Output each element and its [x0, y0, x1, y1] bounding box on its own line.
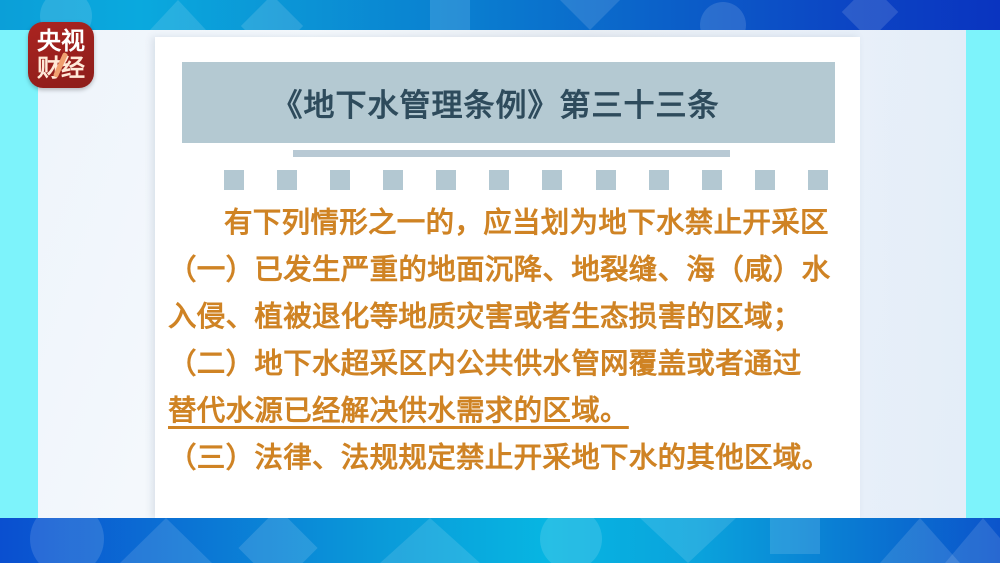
divider-square [436, 170, 456, 190]
clause-two-marker: （二） [168, 341, 254, 388]
logo-line-1: 央视 [37, 28, 85, 55]
band-triangle-down-shape-2 [640, 518, 736, 563]
divider-square [702, 170, 722, 190]
band-circle-shape-4 [540, 518, 602, 563]
band-triangle-shape-3 [120, 518, 212, 563]
band-diamond-shape-3 [238, 518, 317, 563]
broadcast-graphic: 《地下水管理条例》第三十三条 有下列情形之一的，应当划为地下水禁止开采区 （一）… [0, 0, 1000, 563]
divider-square [755, 170, 775, 190]
title-underline-rule [293, 150, 730, 157]
divider-square [489, 170, 509, 190]
divider-square [596, 170, 616, 190]
band-circle-shape-3 [30, 518, 104, 563]
body-line-3: 入侵、植被退化等地质灾害或者生态损害的区域； [168, 294, 858, 341]
divider-square [649, 170, 669, 190]
divider-square [277, 170, 297, 190]
divider-square [330, 170, 350, 190]
band-triangle-down-shape [560, 0, 620, 30]
body-line-6: （三）法律、法规规定禁止开采地下水的其他区域。 [168, 435, 858, 482]
band-triangle-shape-6 [945, 518, 1000, 563]
top-decorative-band [0, 0, 1000, 30]
cctv-finance-logo: 央视 财经 [28, 22, 94, 88]
band-triangle-shape-4 [380, 518, 480, 563]
clause-two-text-part1: 地下水超采区内公共供水管网覆盖或者通过 [254, 348, 801, 380]
band-square-shape-2 [770, 518, 820, 554]
divider-square [383, 170, 403, 190]
divider-square [808, 170, 828, 190]
divider-square [542, 170, 562, 190]
band-triangle-shape [150, 0, 206, 30]
body-line-2: （一）已发生严重的地面沉降、地裂缝、海（咸）水 [168, 247, 858, 294]
band-diamond-shape [241, 0, 303, 30]
band-circle-shape-2 [700, 2, 746, 30]
left-cyan-rail [0, 30, 38, 518]
body-line-4: （二）地下水超采区内公共供水管网覆盖或者通过 [168, 341, 858, 388]
right-cyan-rail [966, 30, 1000, 518]
body-line-1: 有下列情形之一的，应当划为地下水禁止开采区 [168, 200, 858, 247]
bottom-decorative-band [0, 518, 1000, 563]
divider-square-row [224, 170, 828, 190]
title-bar: 《地下水管理条例》第三十三条 [182, 62, 835, 143]
divider-square [224, 170, 244, 190]
page-title: 《地下水管理条例》第三十三条 [272, 80, 720, 125]
body-line-5: 替代水源已经解决供水需求的区域。 [168, 388, 858, 435]
body-text-block: 有下列情形之一的，应当划为地下水禁止开采区 （一）已发生严重的地面沉降、地裂缝、… [168, 200, 858, 482]
band-diamond-shape-2 [842, 0, 899, 30]
band-square-shape [430, 0, 470, 30]
